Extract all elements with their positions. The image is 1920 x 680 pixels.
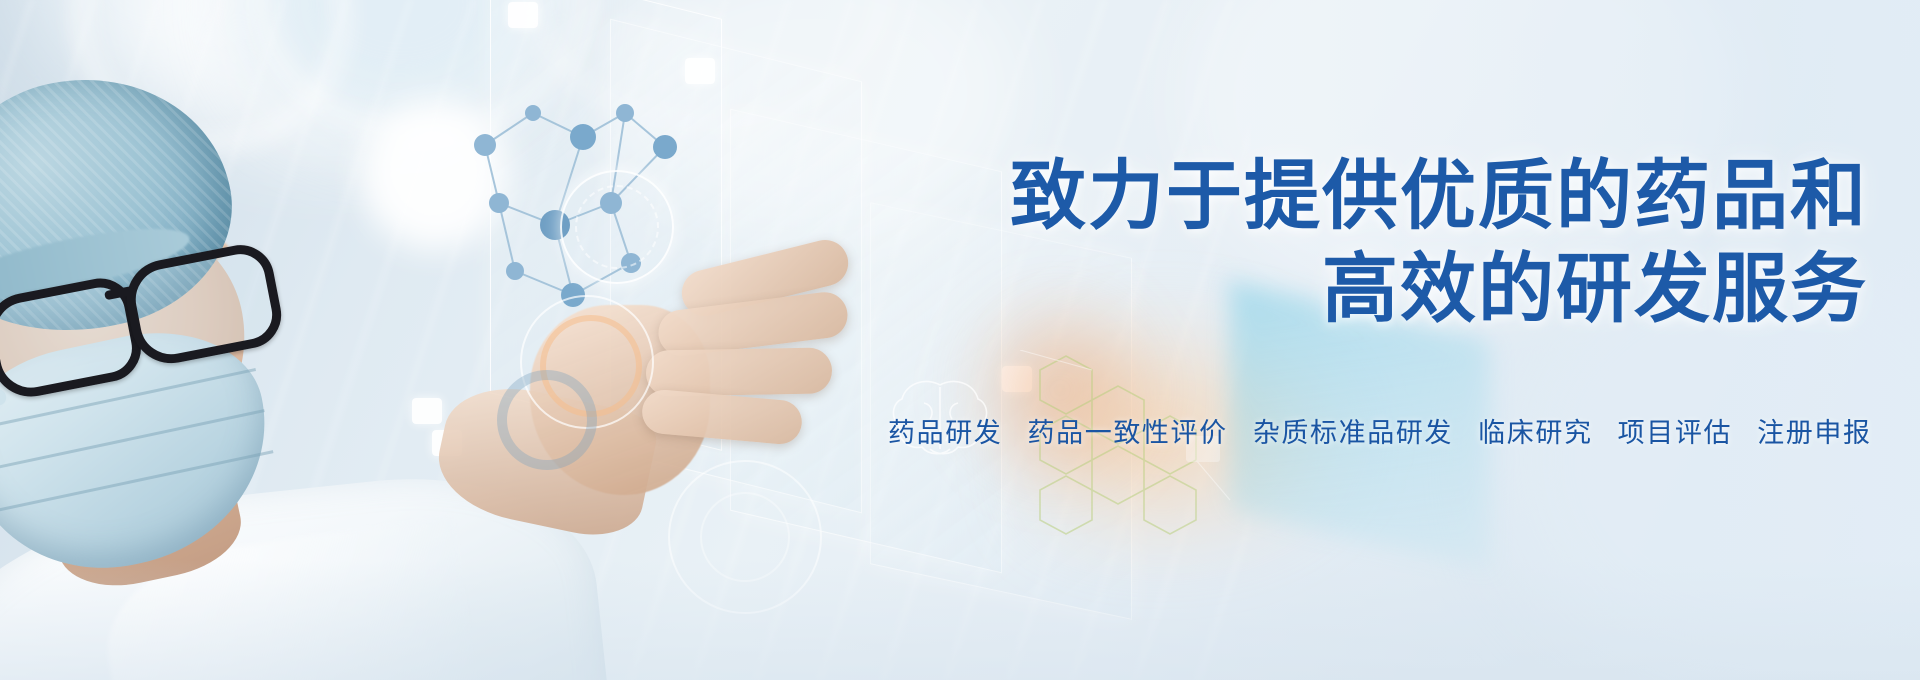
hero-banner: 致力于提供优质的药品和 高效的研发服务 药品研发 药品一致性评价 杂质标准品研发… [0, 0, 1920, 680]
hud-ring-icon [700, 492, 790, 582]
service-item-2[interactable]: 杂质标准品研发 [1253, 418, 1453, 448]
hud-ring-icon [497, 370, 597, 470]
service-item-0[interactable]: 药品研发 [888, 418, 1002, 448]
hero-copy: 致力于提供优质的药品和 高效的研发服务 药品研发 药品一致性评价 杂质标准品研发… [888, 150, 1868, 450]
headline-line-1: 致力于提供优质的药品和 [888, 150, 1868, 243]
hud-ring-icon [575, 185, 659, 269]
service-item-3[interactable]: 临床研究 [1478, 418, 1592, 448]
headline-line-2: 高效的研发服务 [888, 243, 1868, 336]
service-item-1[interactable]: 药品一致性评价 [1028, 418, 1228, 448]
page-title: 致力于提供优质的药品和 高效的研发服务 [888, 150, 1868, 337]
service-item-4[interactable]: 项目评估 [1618, 418, 1732, 448]
service-item-5[interactable]: 注册申报 [1757, 418, 1871, 448]
service-list: 药品研发 药品一致性评价 杂质标准品研发 临床研究 项目评估 注册申报 [888, 411, 1868, 450]
